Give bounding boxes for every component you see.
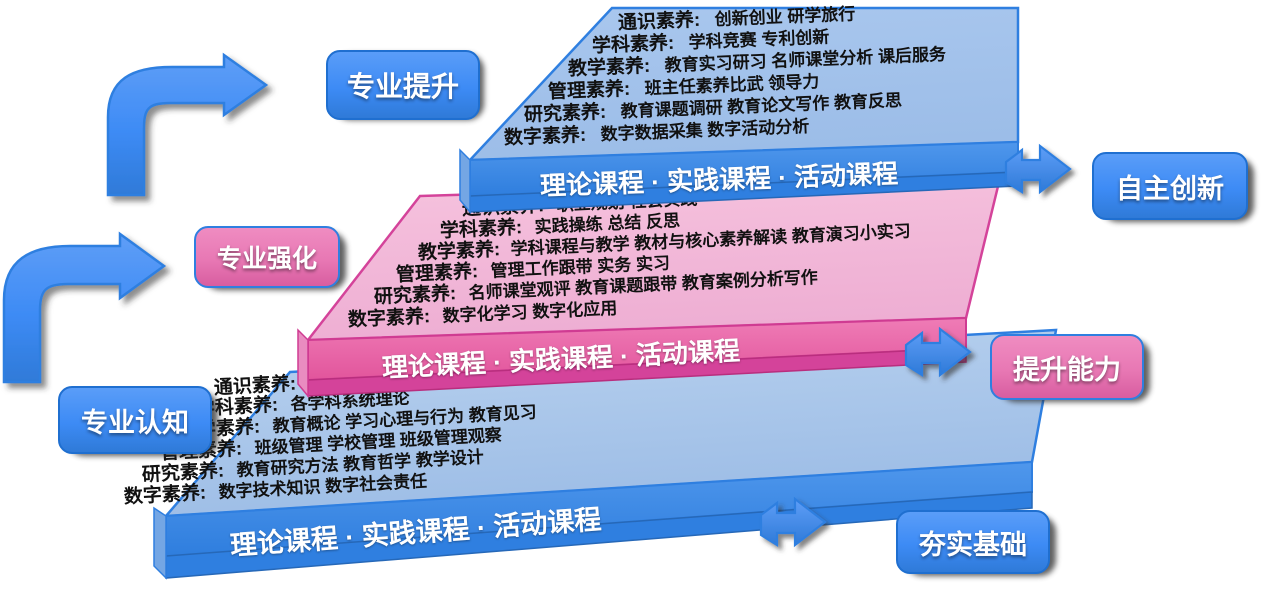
stage-pill-0-label: 专业提升 [347, 65, 459, 105]
arrow-right-middle [900, 325, 980, 405]
top-row-2-category: 教学素养: [568, 56, 651, 80]
curved-arrow-up-right-1 [20, 55, 300, 195]
outcome-pill-2-label: 夯实基础 [919, 523, 1027, 562]
outcome-pill-solid-foundation[interactable]: 夯实基础 [896, 510, 1050, 574]
outcome-pill-independent-innovation[interactable]: 自主创新 [1092, 152, 1248, 220]
stage-pill-professional-improvement[interactable]: 专业提升 [326, 50, 480, 120]
outcome-pill-improve-ability[interactable]: 提升能力 [990, 334, 1144, 400]
arrow-right-bottom [755, 495, 835, 575]
outcome-pill-1-label: 提升能力 [1013, 348, 1121, 387]
top-row-5-category: 数字素养: [504, 125, 587, 149]
top-row-0-category: 通识素养: [618, 10, 701, 34]
top-row-3-category: 管理素养: [548, 79, 631, 103]
stage-pill-professional-cognition[interactable]: 专业认知 [58, 386, 212, 454]
stage-pill-2-label: 专业认知 [81, 401, 189, 440]
arrow-right-top [1000, 142, 1080, 222]
stage-pill-1-label: 专业强化 [217, 239, 317, 275]
outcome-pill-0-label: 自主创新 [1116, 167, 1224, 206]
top-row-1-category: 学科素养: [592, 33, 675, 57]
stage-pill-professional-strengthening[interactable]: 专业强化 [194, 226, 340, 288]
diagram-canvas: 通识素养: 人文历史 自然科学 基础道德与修养 学科素养: 各学科系统理论 教学… [0, 0, 1280, 603]
top-row-4-category: 研究素养: [524, 102, 607, 126]
